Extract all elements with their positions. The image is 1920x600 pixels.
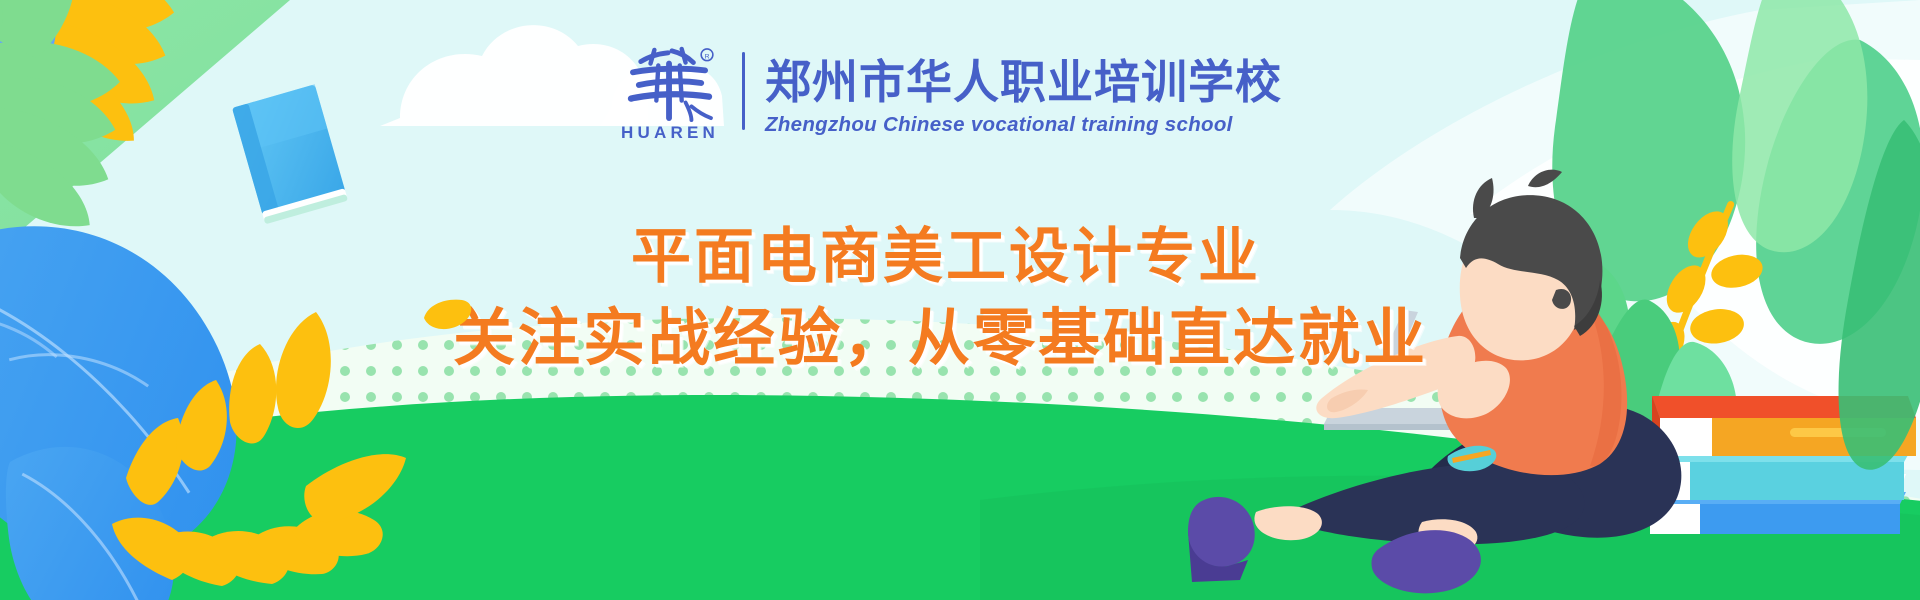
logo-romanization: HUAREN bbox=[621, 124, 719, 141]
school-name-en: Zhengzhou Chinese vocational training sc… bbox=[765, 113, 1282, 137]
school-name-cn: 郑州市华人职业培训学校 bbox=[765, 59, 1282, 107]
headline-line-1: 平面电商美工设计专业 bbox=[631, 208, 1261, 295]
headline-line-2: 关注实战经验，从零基础直达就业 bbox=[453, 287, 1428, 377]
school-name-block: 郑州市华人职业培训学校 Zhengzhou Chinese vocational… bbox=[765, 59, 1282, 137]
school-logo: R HUAREN 郑州市华人职业培训学校 Zhengzhou Chinese v… bbox=[614, 46, 1282, 150]
promo-banner: R HUAREN 郑州市华人职业培训学校 Zhengzhou Chinese v… bbox=[0, 0, 1920, 600]
hua-character-icon: R bbox=[620, 46, 720, 122]
huaren-calligraphy-logo-icon: R HUAREN bbox=[614, 46, 726, 150]
vertical-divider-icon bbox=[742, 52, 745, 130]
svg-text:R: R bbox=[705, 53, 710, 60]
yellow-leaf-bullet-icon bbox=[422, 298, 474, 332]
